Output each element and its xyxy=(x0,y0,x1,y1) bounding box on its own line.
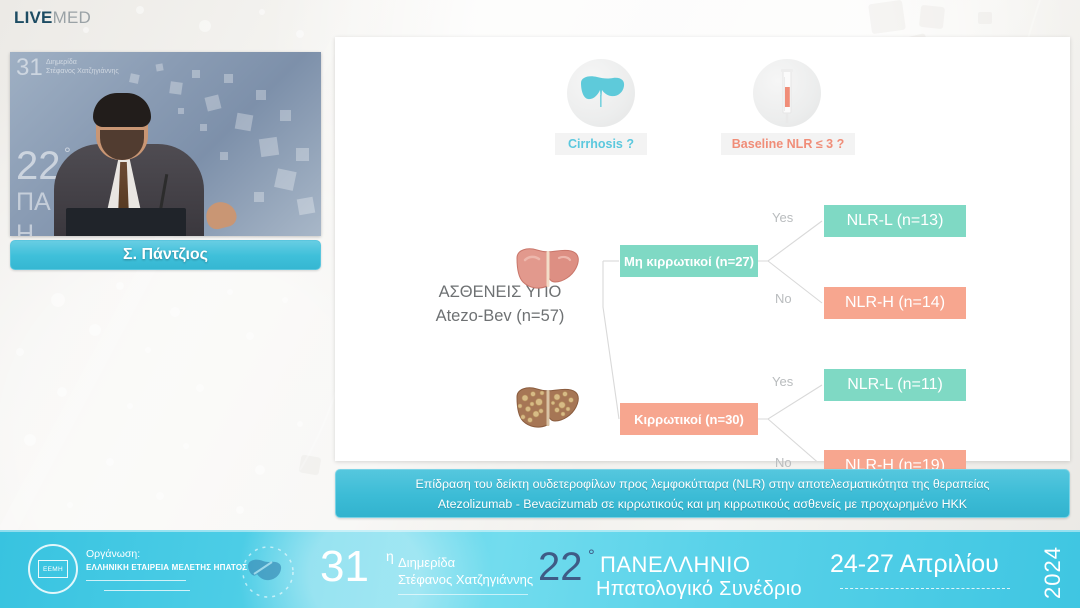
speaker-nameplate: Σ. Πάντζιος xyxy=(10,240,321,270)
leaf-box-nlr-low-cirrhotic: NLR-L (n=11) xyxy=(824,369,966,401)
eemi-seal-text: ΕΕΜΗ xyxy=(38,560,68,578)
organizer-name: ΕΛΛΗΝΙΚΗ ΕΤΑΙΡΕΙΑ ΜΕΛΕΤΗΣ ΗΠΑΤΟΣ xyxy=(86,563,247,572)
organizer-block: Οργάνωση: ΕΛΛΗΝΙΚΗ ΕΤΑΙΡΕΙΑ ΜΕΛΕΤΗΣ ΗΠΑΤ… xyxy=(86,548,247,591)
edition-suffix: η xyxy=(386,548,394,564)
congress-number-degree: ° xyxy=(588,546,595,566)
healthy-liver-image xyxy=(513,242,583,294)
edge-label-yes-cirrhotic: Yes xyxy=(772,374,793,389)
question-cirrhosis-label: Cirrhosis ? xyxy=(555,133,647,155)
conference-banner: ΕΕΜΗ Οργάνωση: ΕΛΛΗΝΙΚΗ ΕΤΑΙΡΕΙΑ ΜΕΛΕΤΗΣ… xyxy=(0,530,1080,608)
branch-box-noncirrhotic: Μη κιρρωτικοί (n=27) xyxy=(620,245,758,277)
eemi-seal-logo: ΕΕΜΗ xyxy=(28,544,78,594)
podium-desk xyxy=(66,208,186,236)
edge-label-yes-noncirrhotic: Yes xyxy=(772,210,793,225)
banner-top-edge xyxy=(0,530,1080,532)
liver-badge-icon xyxy=(232,542,304,602)
organizer-rule-2 xyxy=(104,590,190,591)
leaf-box-nlr-low-noncirrhotic: NLR-L (n=13) xyxy=(824,205,966,237)
dimerida-line-1: Διημερίδα xyxy=(398,554,533,571)
congress-number-22: 22 xyxy=(538,545,583,589)
speaker-name: Σ. Πάντζιος xyxy=(123,246,208,264)
liver-icon xyxy=(567,59,635,127)
video-overlay-dimerida: ΔιημερίδαΣτέφανος Χατζηγιάννης xyxy=(46,58,119,76)
congress-dates: 24-27 Απριλίου xyxy=(830,550,999,579)
organizer-label: Οργάνωση: xyxy=(86,548,247,560)
leaf-box-nlr-high-noncirrhotic: NLR-H (n=14) xyxy=(824,287,966,319)
syringe-icon xyxy=(753,59,821,127)
edge-label-no-cirrhotic: No xyxy=(775,455,792,470)
caption-line-2: Atezolizumab - Bevacizumab σε κιρρωτικού… xyxy=(438,494,967,514)
video-overlay-pa: ΠΑ xyxy=(16,188,51,217)
dimerida-rule xyxy=(398,594,528,595)
video-overlay-31: 31 xyxy=(16,54,43,82)
edition-number-31: 31 xyxy=(320,544,369,590)
logo-live-text: LIVE xyxy=(14,8,53,27)
edge-label-no-noncirrhotic: No xyxy=(775,291,792,306)
logo-med-text: MED xyxy=(53,8,91,27)
video-overlay-h: Η xyxy=(16,220,34,236)
cirrhotic-liver-image xyxy=(513,381,583,433)
congress-hepatology: Ηπατολογικό Συνέδριο xyxy=(596,578,802,601)
question-nlr-label: Baseline NLR ≤ 3 ? xyxy=(721,133,855,155)
speaker-video[interactable]: 31 ΔιημερίδαΣτέφανος Χατζηγιάννης 22 ° Π… xyxy=(10,52,321,236)
dimerida-block: Διημερίδα Στέφανος Χατζηγιάννης xyxy=(398,554,533,588)
congress-date-rule xyxy=(840,588,1010,589)
speaker-hair xyxy=(93,93,151,127)
organizer-rule-1 xyxy=(86,580,186,581)
branch-box-cirrhotic: Κιρρωτικοί (n=30) xyxy=(620,403,758,435)
caption-line-1: Επίδραση του δείκτη ουδετεροφίλων προς λ… xyxy=(416,474,990,494)
livemed-logo: LIVEMED xyxy=(14,8,91,28)
congress-panhellenic: ΠΑΝΕΛΛΗΝΙΟ xyxy=(600,552,751,578)
congress-year: 2024 xyxy=(1040,546,1066,599)
patients-line-2: Atezo-Bev (n=57) xyxy=(395,304,605,328)
presentation-slide[interactable]: Cirrhosis ? Baseline NLR ≤ 3 ? ΑΣΘΕΝΕΙΣ … xyxy=(335,37,1070,461)
dimerida-line-2: Στέφανος Χατζηγιάννης xyxy=(398,571,533,588)
presentation-title-bar: Επίδραση του δείκτη ουδετεροφίλων προς λ… xyxy=(335,469,1070,518)
